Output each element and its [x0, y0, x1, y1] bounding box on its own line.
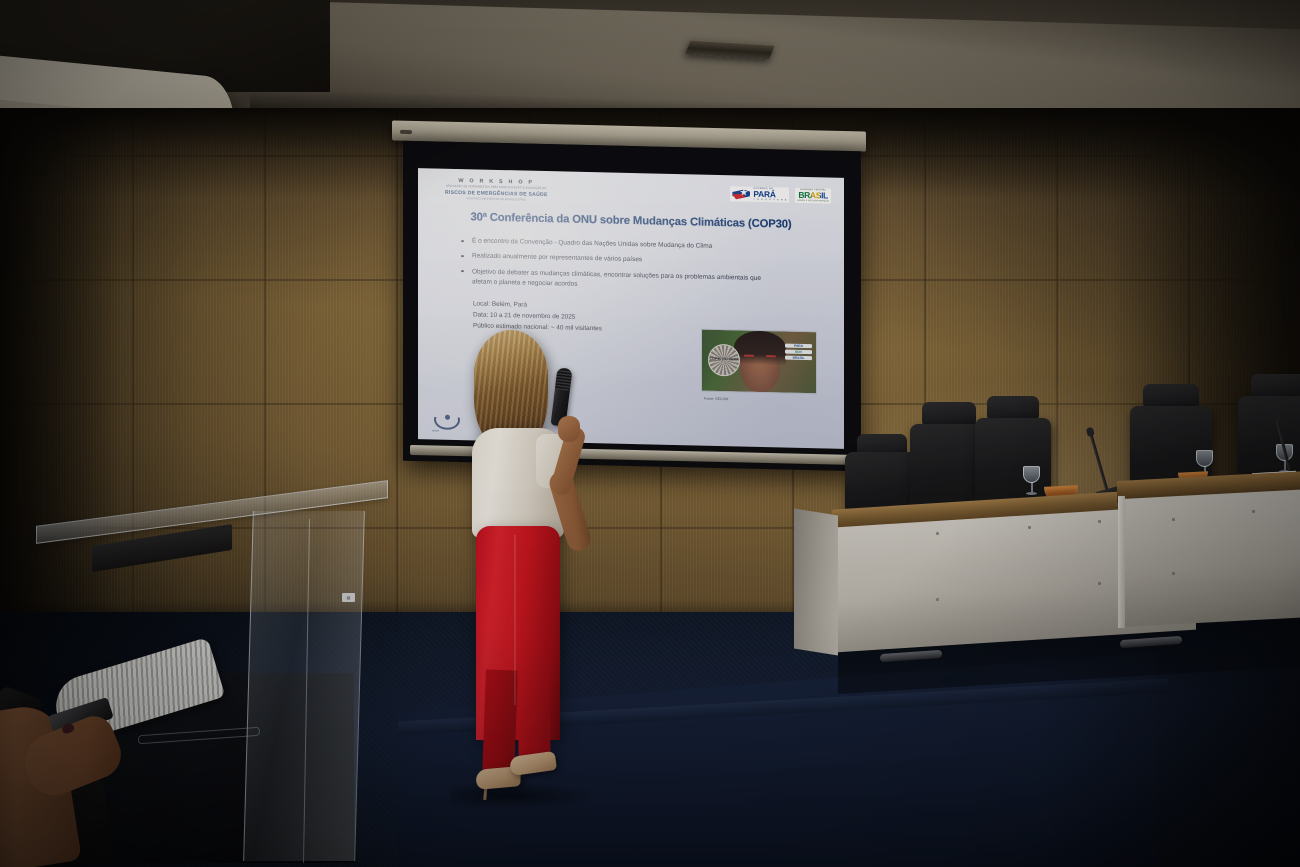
governo-federal-brasil-logo: GOVERNO FEDERAL BRASIL UNIÃO E RECONSTRU… — [795, 188, 831, 204]
para-tagline: T O D O O P A R Á — [753, 199, 787, 202]
presenter-person — [462, 330, 602, 810]
auditorium-photo: W O R K S H O P APLICAÇÃO DE FERRAMENTAS… — [0, 0, 1300, 867]
workshop-branding: W O R K S H O P APLICAÇÃO DE FERRAMENTAS… — [431, 177, 548, 202]
bullet-dot-icon — [461, 240, 464, 243]
presenter-hair — [474, 330, 548, 442]
slide-header: W O R K S H O P APLICAÇÃO DE FERRAMENTAS… — [431, 177, 831, 209]
slide-title: 30ª Conferência da ONU sobre Mudanças Cl… — [431, 211, 831, 232]
photo-credit: Fonte: SECOM — [704, 397, 728, 402]
list-item: Realizado anualmente por representantes … — [461, 252, 761, 269]
screen-roller-knob — [400, 130, 412, 134]
workshop-subtitle-2: COM FOCO EM EVENTOS DE MASSA (COP30) — [445, 197, 548, 203]
brasil-tagline: UNIÃO E RECONSTRUÇÃO — [797, 200, 829, 203]
footer-logo-caption: SESPA — [432, 430, 439, 432]
bullet-text: É o encontro da Convenção - Quadro das N… — [472, 238, 712, 251]
photo-mini-logos: PARÁ GOV BRASIL — [785, 344, 812, 363]
bullet-dot-icon — [461, 255, 464, 258]
cop30-badge-icon: COP30 NO PARÁ — [708, 344, 740, 377]
sespa-footer-logo-icon: SESPA — [434, 409, 460, 430]
photo-subject-hair — [734, 330, 786, 365]
governo-do-para-logo: ★ GOVERNO DO PARÁ T O D O O P A R Á — [730, 186, 789, 202]
bullet-dot-icon — [461, 270, 464, 273]
photo-face-paint-left — [744, 355, 754, 357]
foreground-hand — [0, 648, 240, 867]
microphone-grille-icon — [555, 367, 573, 391]
slide-bullet-list: É o encontro da Convenção - Quadro das N… — [461, 236, 831, 295]
list-item: Objetivo de debater as mudanças climátic… — [461, 267, 761, 294]
photo-minilogo-gov: GOV — [785, 350, 812, 355]
para-star-icon: ★ — [732, 187, 751, 200]
bullet-text: Realizado anualmente por representantes … — [472, 253, 642, 264]
trouser-crease — [514, 535, 516, 705]
lectern-sticker-icon: ▤ — [342, 593, 355, 602]
bullet-text: Objetivo de debater as mudanças climátic… — [472, 268, 761, 287]
panel-table — [832, 470, 1300, 710]
photo-face-paint-right — [766, 355, 776, 357]
presenter-floor-shadow — [450, 782, 600, 810]
list-item: É o encontro da Convenção - Quadro das N… — [461, 236, 761, 253]
photo-minilogo-brasil: BRASIL — [785, 356, 812, 361]
table-screws — [832, 470, 1300, 710]
presenter-hand — [558, 416, 580, 442]
slide-photo-cop30: COP30 NO PARÁ PARÁ GOV BRASIL — [701, 329, 817, 395]
photo-minilogo-para: PARÁ — [785, 344, 812, 349]
presenter-shoe-right — [509, 751, 557, 776]
header-logos: ★ GOVERNO DO PARÁ T O D O O P A R Á GOVE… — [730, 184, 831, 203]
